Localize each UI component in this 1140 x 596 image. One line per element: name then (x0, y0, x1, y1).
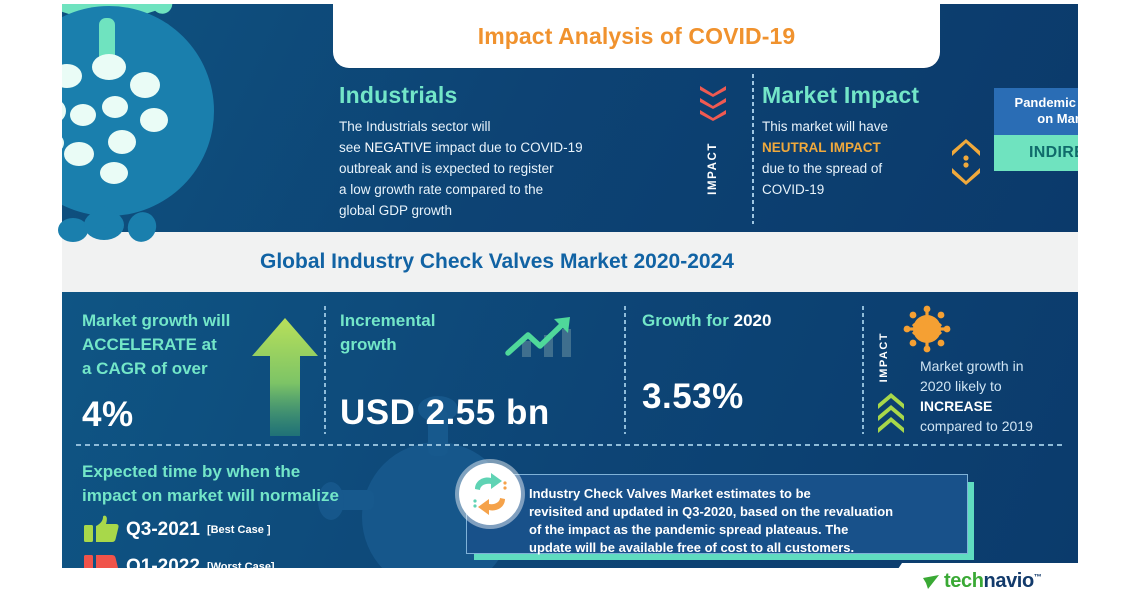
note-line-2: revisited and updated in Q3-2020, based … (529, 503, 953, 521)
growth-2020-label-prefix: Growth for (642, 311, 734, 330)
market-title: Global Industry Check Valves Market 2020… (260, 250, 734, 274)
main-panel: Market growth will ACCELERATE at a CAGR … (62, 292, 1078, 568)
technavio-logo: technavio™ (922, 570, 1041, 593)
growth-2020-label-year: 2020 (734, 311, 772, 330)
impact-2020-increase: INCREASE (920, 398, 992, 414)
logo-text-blue: navio (984, 570, 1034, 592)
normalize-heading-line-2: impact on market will normalize (82, 484, 442, 508)
refresh-cycle-icon (459, 463, 521, 525)
logo-text-green: tech (944, 570, 984, 592)
industrials-negative-emphasis: NEGATIVE (365, 140, 432, 155)
thumbs-up-icon (82, 515, 122, 545)
industrials-line-3: outbreak and is expected to register (339, 158, 639, 179)
pandemic-impact-box: Pandemic Impact on Market INDIRECT (994, 88, 1078, 171)
normalize-heading: Expected time by when the impact on mark… (82, 460, 442, 508)
trend-up-chart-icon (500, 315, 586, 365)
virus-spike-decoration (96, 206, 109, 228)
growth-2020-block: Growth for 2020 3.53% (642, 309, 892, 417)
market-title-strip: Global Industry Check Valves Market 2020… (62, 232, 1078, 292)
industrials-line-4: a low growth rate compared to the (339, 179, 639, 200)
normalize-quarter: Q3-2021 (126, 519, 200, 541)
title-card: Impact Analysis of COVID-19 (333, 4, 940, 68)
incremental-growth-value: USD 2.55 bn (340, 393, 630, 433)
note-text: Industry Check Valves Market estimates t… (529, 485, 953, 557)
note-line-3: of the impact as the pandemic spread pla… (529, 521, 953, 539)
growth-2020-label: Growth for 2020 (642, 309, 892, 333)
incremental-growth-label: Incremental growth (340, 309, 630, 357)
impact-indicator-negative: IMPACT (690, 86, 736, 214)
growth-2020-value: 3.53% (642, 377, 892, 417)
pandemic-impact-title: Pandemic Impact on Market (994, 88, 1078, 135)
coronavirus-orange-icon (902, 304, 952, 354)
normalize-block: Expected time by when the impact on mark… (82, 460, 442, 568)
industrials-block: Industrials The Industrials sector will … (339, 82, 639, 221)
normalize-heading-line-1: Expected time by when the (82, 460, 442, 484)
industrials-line-2: see NEGATIVE impact due to COVID-19 (339, 137, 639, 158)
coronavirus-illustration (62, 4, 274, 232)
header-vertical-divider (752, 74, 754, 224)
header-panel: Impact Analysis of COVID-19 Industrials … (62, 4, 1078, 232)
chevron-down-icon (699, 98, 727, 109)
incremental-growth-line-1: Incremental (340, 309, 630, 333)
horizontal-divider (76, 444, 1062, 446)
technavio-wordmark: technavio™ (944, 570, 1041, 593)
logo-trademark: ™ (1034, 572, 1042, 581)
market-impact-line-1: This market will have (762, 116, 997, 137)
up-down-arrows-icon (948, 136, 984, 188)
market-impact-heading: Market Impact (762, 82, 997, 109)
impact-2020-text: Market growth in 2020 likely to INCREASE… (920, 356, 1075, 436)
normalize-row-worst-case: Q1-2022 [Worst Case] (82, 552, 442, 568)
impact-vertical-label: IMPACT (707, 142, 719, 195)
pandemic-impact-title-line-2: on Market (1000, 111, 1078, 127)
up-arrow-growth-icon (252, 318, 318, 436)
technavio-mark-icon (922, 574, 940, 590)
industrials-heading: Industrials (339, 82, 639, 109)
normalize-row-best-case: Q3-2021 [Best Case ] (82, 515, 442, 545)
note-line-4: update will be available free of cost to… (529, 539, 953, 557)
industrials-body: The Industrials sector will see NEGATIVE… (339, 116, 639, 221)
incremental-growth-block: Incremental growth USD 2.55 bn (340, 309, 630, 433)
normalize-quarter: Q1-2022 (126, 556, 200, 568)
incremental-growth-line-2: growth (340, 333, 630, 357)
impact-2020-emphasis: INCREASE (920, 396, 1075, 416)
thumbs-down-icon (82, 552, 122, 568)
page-title: Impact Analysis of COVID-19 (333, 23, 940, 50)
impact-vertical-label: IMPACT (878, 332, 890, 382)
pandemic-impact-value: INDIRECT (994, 135, 1078, 171)
industrials-line-2-pre: see (339, 140, 365, 155)
pandemic-impact-title-line-1: Pandemic Impact (1000, 95, 1078, 111)
note-line-1: Industry Check Valves Market estimates t… (529, 485, 953, 503)
industrials-line-5: global GDP growth (339, 200, 639, 221)
normalize-case: [Worst Case] (207, 561, 275, 568)
impact-2020-line-1: Market growth in (920, 356, 1075, 376)
impact-2020-line-4: compared to 2019 (920, 416, 1075, 436)
impact-2020-line-2: 2020 likely to (920, 376, 1075, 396)
infographic-root: Impact Analysis of COVID-19 Industrials … (0, 0, 1140, 596)
industrials-line-1: The Industrials sector will (339, 116, 639, 137)
normalize-case: [Best Case ] (207, 524, 271, 536)
chevron-down-icon (699, 86, 727, 97)
chevron-up-group-icon (876, 390, 906, 434)
note-box: Industry Check Valves Market estimates t… (466, 474, 968, 554)
industrials-line-2-post: impact due to COVID-19 (432, 140, 583, 155)
chevron-down-icon (699, 110, 727, 121)
